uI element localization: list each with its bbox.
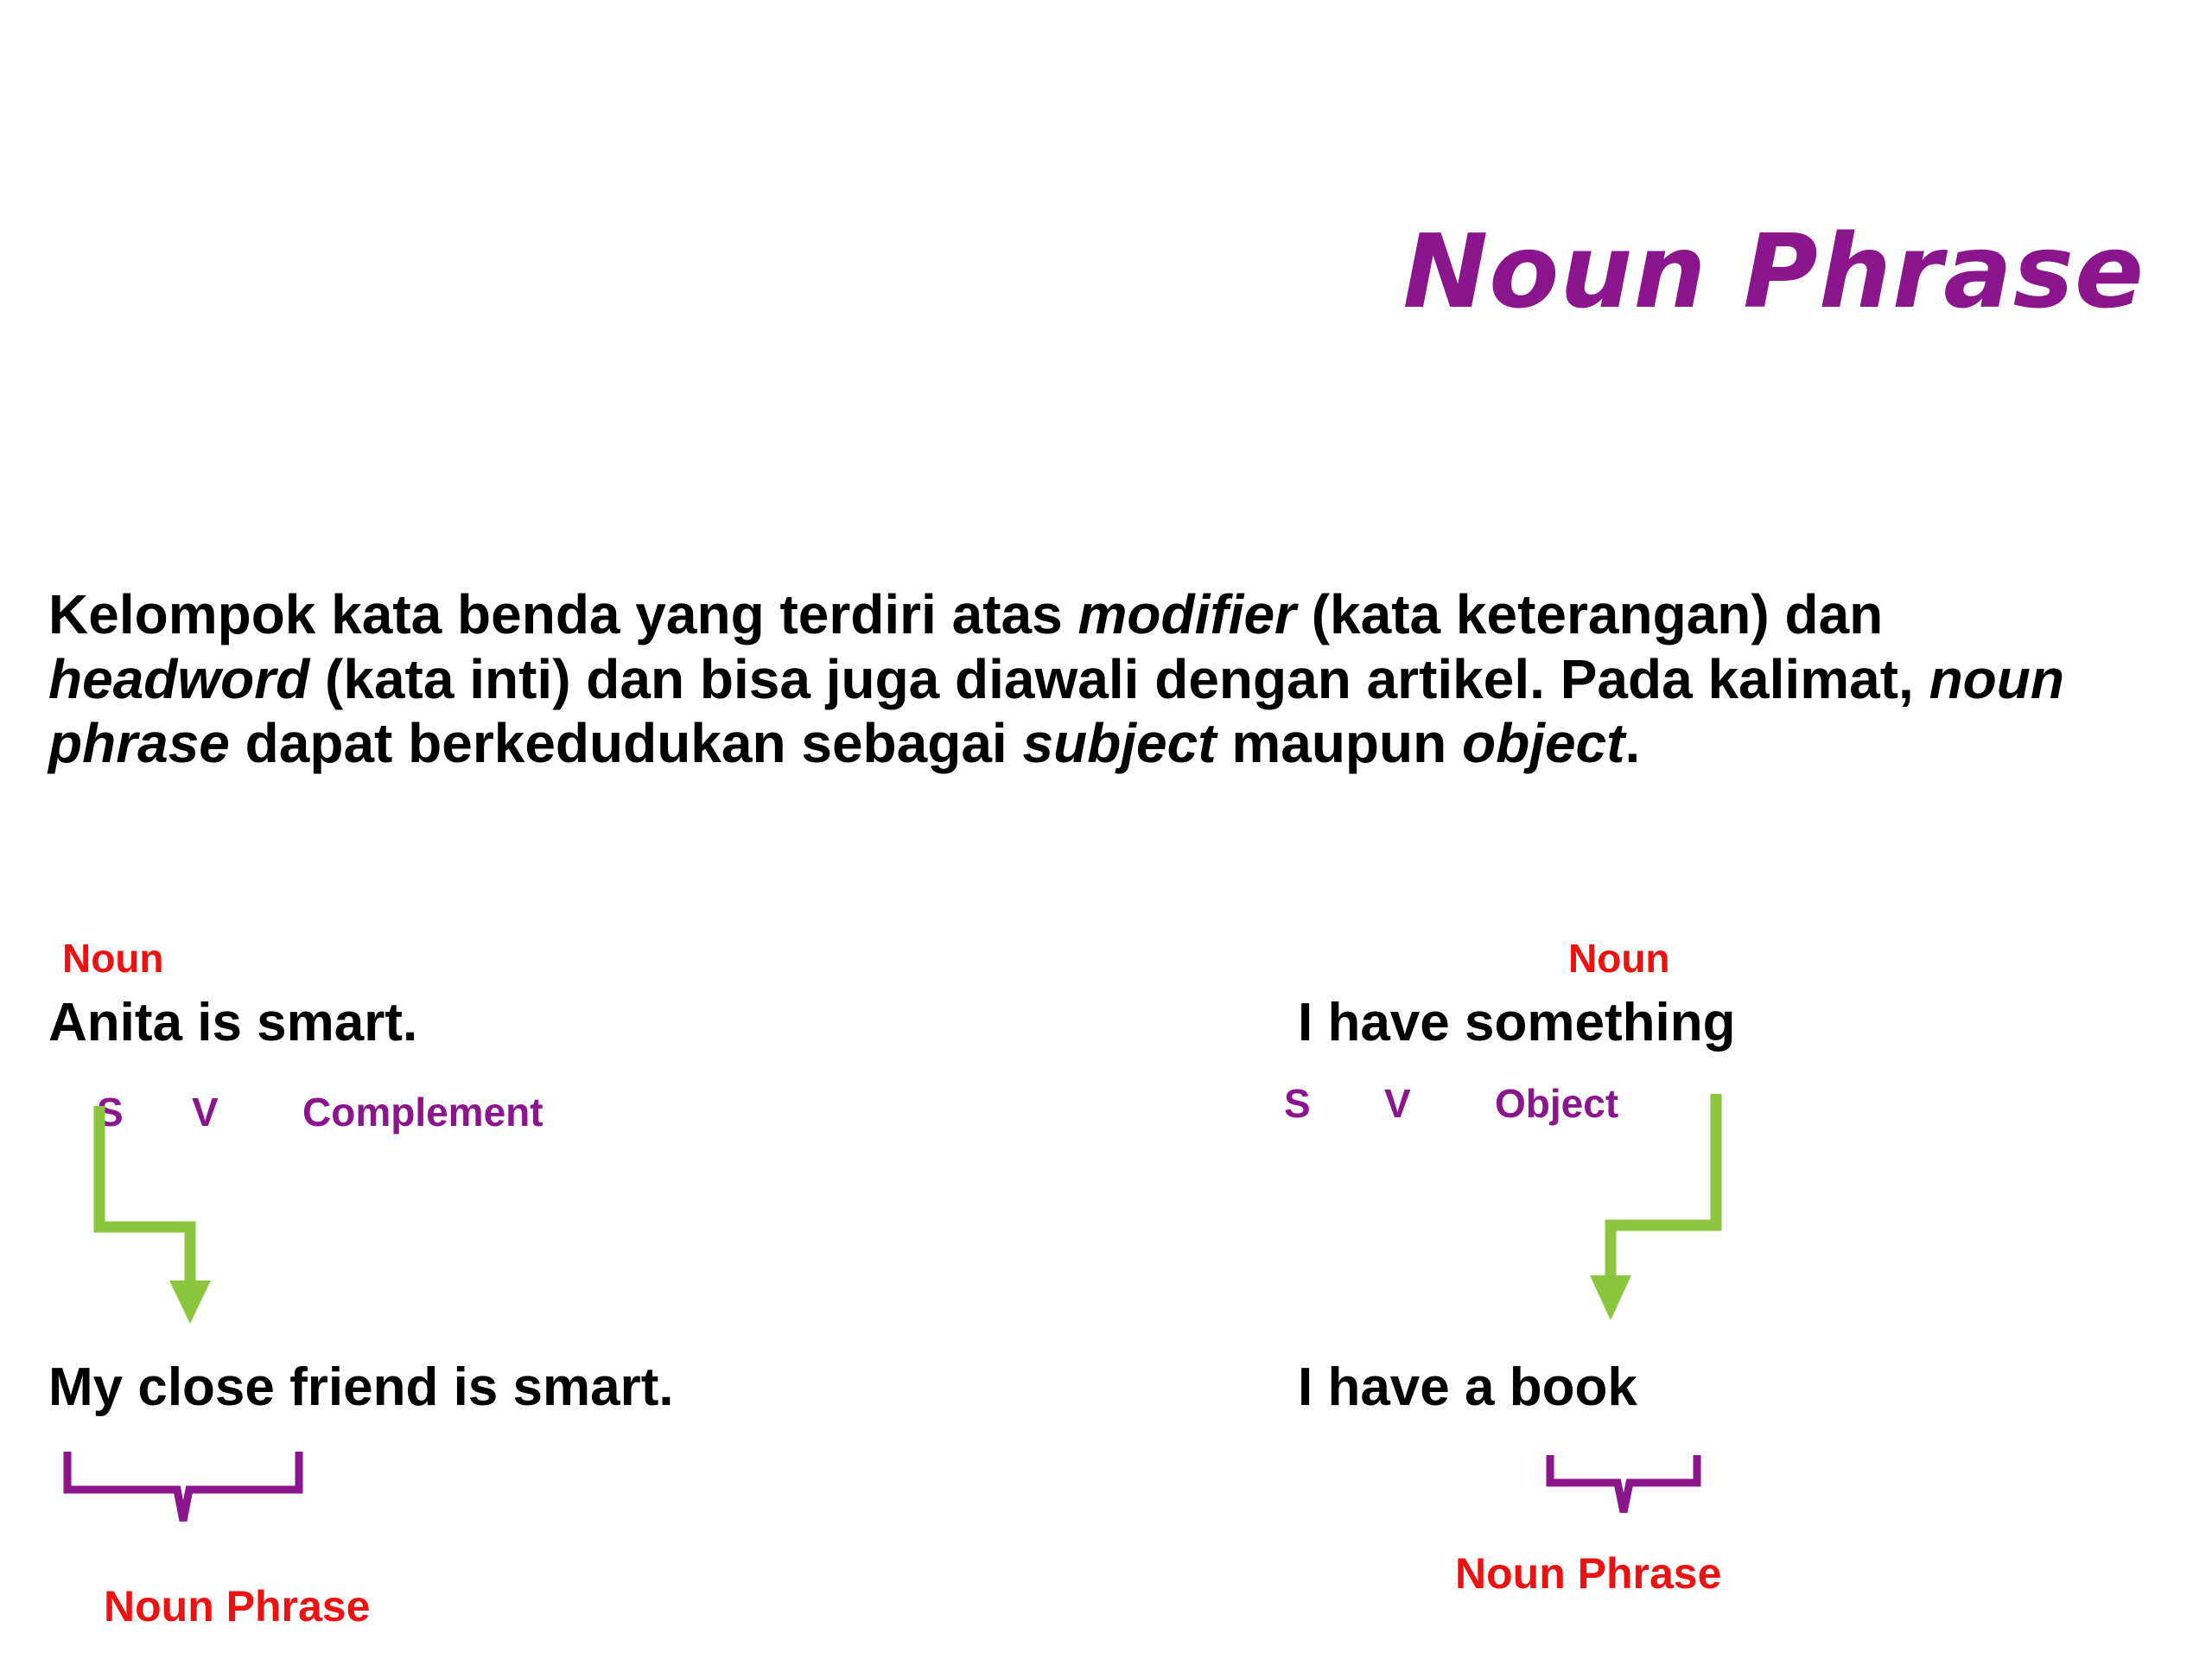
noun-tag-right: Noun [1568, 935, 1670, 982]
sentence-bottom-left: My close friend is smart. [48, 1357, 674, 1418]
definition-segment-2: (kata keterangan) dan [1296, 583, 1883, 645]
noun-phrase-tag-left: Noun Phrase [104, 1581, 370, 1631]
noun-tag-left: Noun [62, 935, 164, 982]
role-subject-right: S [1284, 1080, 1384, 1127]
definition-paragraph: Kelompok kata benda yang terdiri atas mo… [48, 582, 2139, 776]
definition-segment-9: object [1462, 712, 1624, 774]
role-verb-right: V [1384, 1080, 1495, 1127]
noun-phrase-tag-right: Noun Phrase [1455, 1548, 1721, 1599]
definition-segment-0: Kelompok kata benda yang terdiri atas [48, 583, 1077, 645]
definition-segment-7: subject [1022, 712, 1216, 774]
definition-segment-3: headword [48, 648, 309, 710]
underbrace-right [1538, 1450, 1728, 1536]
definition-segment-4: (kata inti) dan bisa juga diawali dengan… [309, 648, 1929, 710]
role-complement-left: Complement [302, 1089, 543, 1135]
definition-segment-10: . [1624, 712, 1640, 774]
example-panel-right: Noun I have something SVObject I have a … [1106, 916, 2212, 1642]
sentence-bottom-right: I have a book [1298, 1357, 1637, 1418]
sentence-top-left: Anita is smart. [48, 992, 417, 1053]
green-arrow-left [78, 1099, 268, 1341]
sentence-top-right: I have something [1298, 992, 1735, 1053]
underbrace-left [52, 1446, 346, 1550]
definition-segment-6: dapat berkedudukan sebagai [230, 712, 1023, 774]
definition-segment-1: modifier [1077, 583, 1295, 645]
page-title: Noun Phrase [1403, 220, 2145, 322]
example-panel-left: Noun Anita is smart. SVComplement My clo… [0, 916, 1106, 1642]
definition-segment-8: maupun [1217, 712, 1462, 774]
green-arrow-right [1547, 1087, 1763, 1338]
